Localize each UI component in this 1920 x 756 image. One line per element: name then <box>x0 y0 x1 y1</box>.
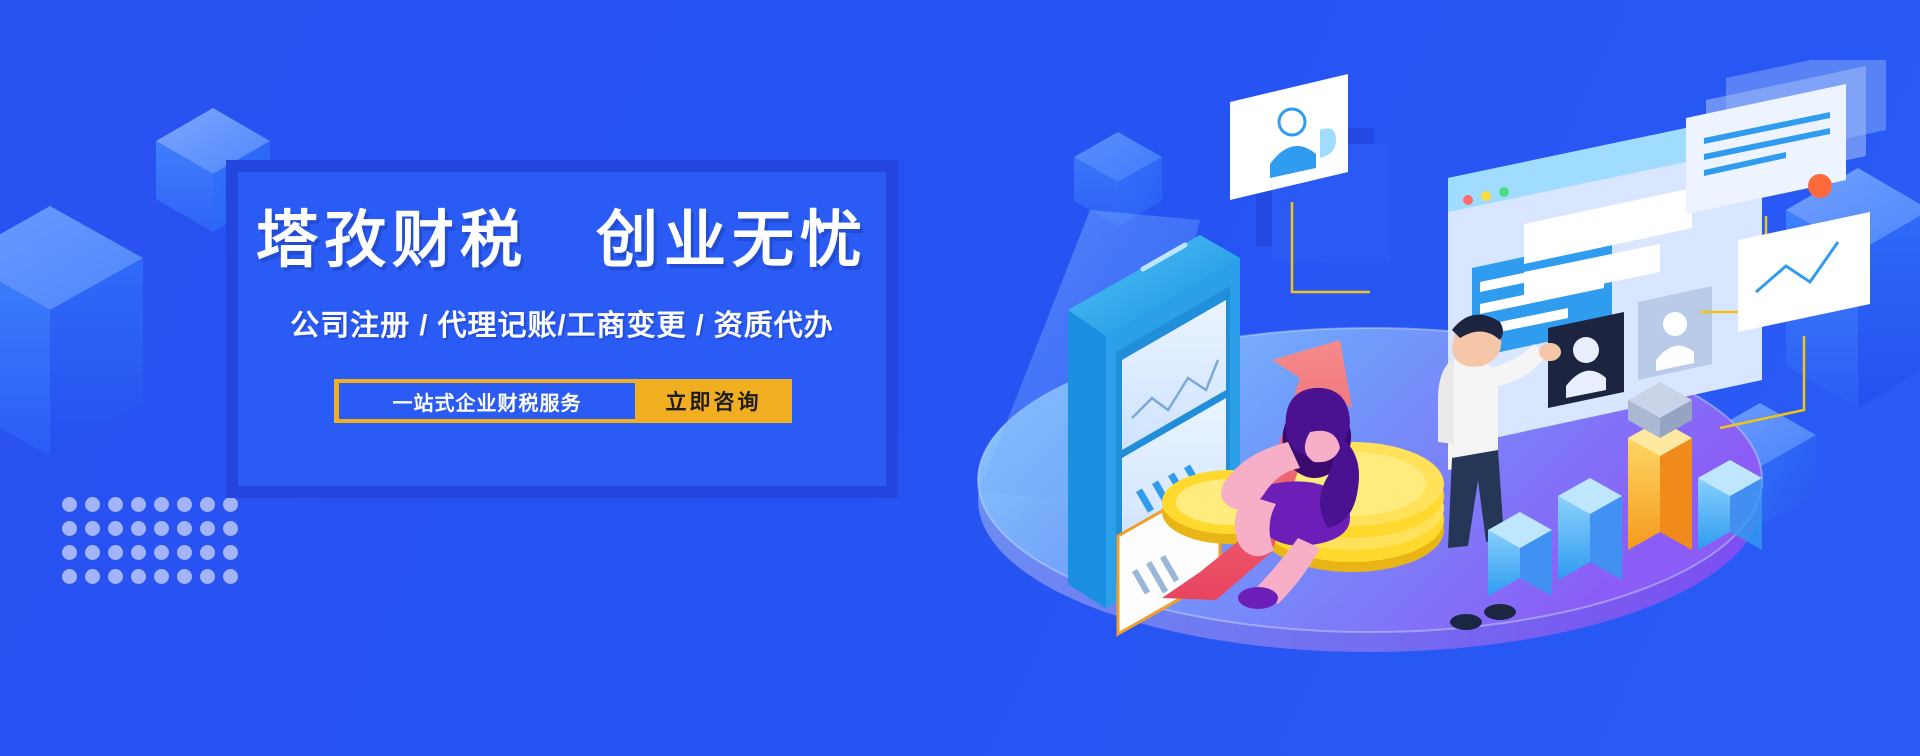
floating-profile-card <box>1230 74 1348 200</box>
headline-frame: 塔孜财税 创业无忧 公司注册 / 代理记账/工商变更 / 资质代办 一站式企业财… <box>226 160 898 498</box>
consult-now-button[interactable]: 立即咨询 <box>635 379 792 423</box>
isometric-fintech-illustration <box>900 60 1920 680</box>
floating-document-card <box>1686 60 1886 214</box>
cube-large-left-icon <box>0 206 143 456</box>
cta-bar: 一站式企业财税服务 立即咨询 <box>334 379 792 423</box>
promo-banner: 塔孜财税 创业无忧 公司注册 / 代理记账/工商变更 / 资质代办 一站式企业财… <box>0 0 1920 756</box>
connector-profile <box>1292 202 1370 292</box>
dot-grid-pattern <box>62 497 246 593</box>
headline-frame-inner: 塔孜财税 创业无忧 公司注册 / 代理记账/工商变更 / 资质代办 一站式企业财… <box>238 172 886 486</box>
cta-tagline: 一站式企业财税服务 <box>339 383 635 419</box>
service-list: 公司注册 / 代理记账/工商变更 / 资质代办 <box>238 312 886 341</box>
page-title: 塔孜财税 创业无忧 <box>238 210 886 272</box>
